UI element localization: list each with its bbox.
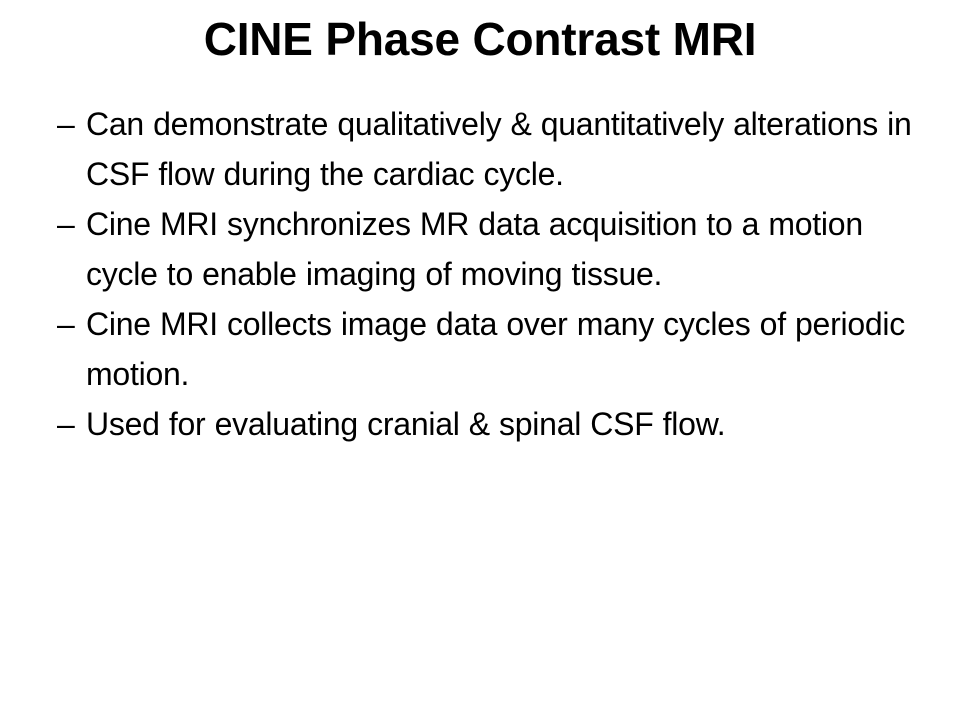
bullet-list: – Can demonstrate qualitatively & quanti…: [57, 99, 937, 449]
bullet-item: – Can demonstrate qualitatively & quanti…: [57, 99, 937, 199]
bullet-text: Can demonstrate qualitatively & quantita…: [86, 99, 937, 199]
bullet-item: – Cine MRI collects image data over many…: [57, 299, 937, 399]
slide-title: CINE Phase Contrast MRI: [0, 11, 960, 67]
bullet-dash-marker: –: [57, 99, 86, 149]
presentation-slide: CINE Phase Contrast MRI – Can demonstrat…: [0, 0, 960, 720]
bullet-dash-marker: –: [57, 299, 86, 349]
bullet-item: – Used for evaluating cranial & spinal C…: [57, 399, 937, 449]
bullet-item: – Cine MRI synchronizes MR data acquisit…: [57, 199, 937, 299]
bullet-text: Cine MRI collects image data over many c…: [86, 299, 937, 399]
bullet-text: Cine MRI synchronizes MR data acquisitio…: [86, 199, 937, 299]
bullet-dash-marker: –: [57, 399, 86, 449]
bullet-dash-marker: –: [57, 199, 86, 249]
bullet-text: Used for evaluating cranial & spinal CSF…: [86, 399, 937, 449]
